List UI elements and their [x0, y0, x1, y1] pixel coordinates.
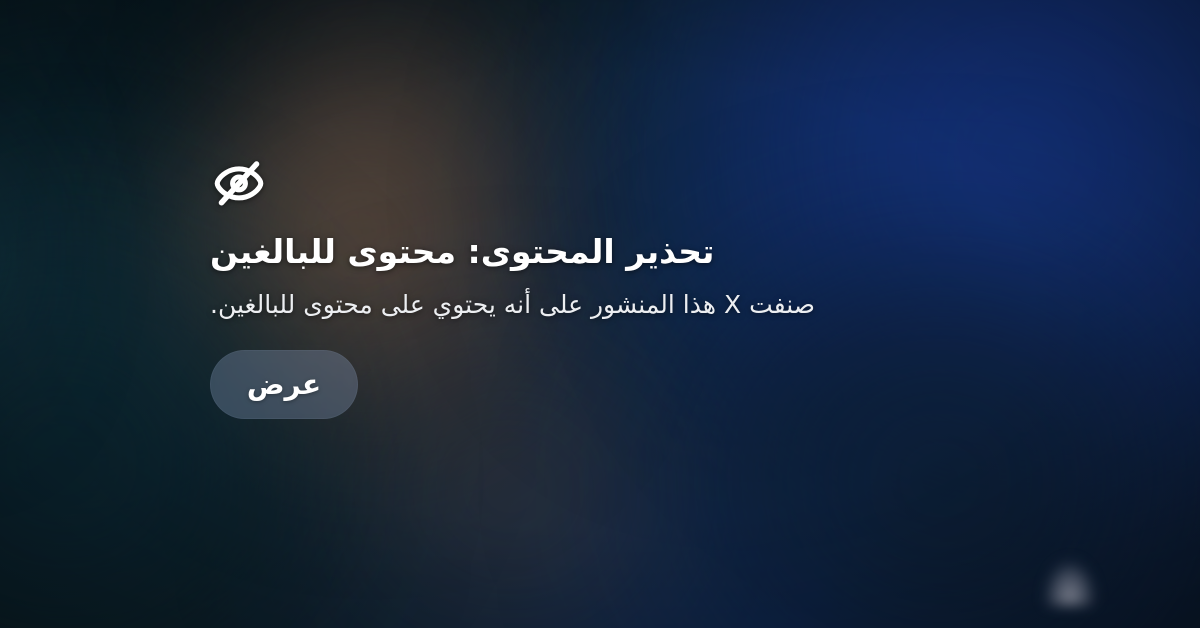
sensitive-content-overlay-screen: تحذير المحتوى: محتوى للبالغين صنفت X هذا…: [0, 0, 1200, 628]
content-warning-description: صنفت X هذا المنشور على أنه يحتوي على محت…: [210, 288, 815, 322]
content-warning-panel: تحذير المحتوى: محتوى للبالغين صنفت X هذا…: [0, 0, 1200, 628]
view-button[interactable]: عرض: [210, 350, 358, 419]
eye-off-icon: [210, 155, 268, 213]
content-warning-title: تحذير المحتوى: محتوى للبالغين: [210, 231, 714, 272]
